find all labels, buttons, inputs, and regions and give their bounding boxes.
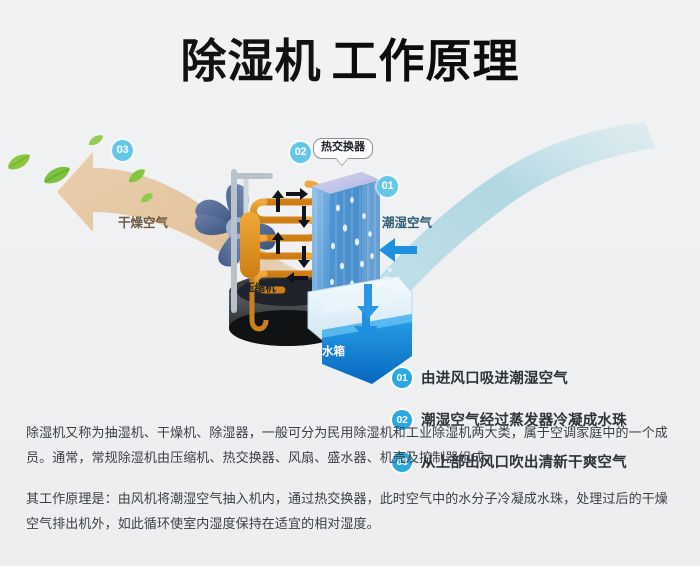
illustration-badge-02: 02 — [290, 142, 311, 163]
legend-item: 01 由进风口吸进潮湿空气 — [392, 367, 682, 388]
illustration-badge-03: 03 — [112, 140, 133, 161]
leaf-icon — [88, 134, 104, 147]
legend-text-01: 由进风口吸进潮湿空气 — [421, 367, 568, 388]
description-block: 除湿机又称为抽湿机、干燥机、除湿器，一般可分为民用除湿机和工业除湿机两大类，属于… — [26, 420, 678, 536]
water-tank-label: 水箱 — [322, 343, 345, 359]
page-title-part1: 除湿机 — [181, 35, 322, 87]
page-title-part2: 工作原理 — [332, 35, 520, 87]
compressor-label: 压缩机 — [244, 280, 276, 295]
description-paragraph-2: 其工作原理是：由风机将潮湿空气抽入机内，通过热交换器，此时空气中的水分子冷凝成水… — [26, 486, 678, 536]
humid-air-label: 潮湿空气 — [382, 212, 432, 231]
illustration-diagram: 03 02 01 热交换器 干燥空气 潮湿空气 压缩机 水箱 01 由进风口吸进… — [0, 112, 700, 400]
dry-air-label: 干燥空气 — [118, 212, 168, 231]
page-title: 除湿机工作原理 — [0, 34, 700, 88]
description-paragraph-1: 除湿机又称为抽湿机、干燥机、除湿器，一般可分为民用除湿机和工业除湿机两大类，属于… — [26, 420, 678, 470]
illustration-badge-01: 01 — [377, 176, 398, 197]
leaf-icon — [6, 152, 32, 172]
leaf-icon — [140, 192, 154, 204]
legend-badge-01: 01 — [392, 368, 412, 388]
leaf-icon — [42, 164, 72, 186]
leaf-icon — [128, 168, 146, 184]
heat-exchanger-callout: 热交换器 — [313, 138, 373, 159]
page-root: 除湿机工作原理 — [0, 0, 700, 566]
